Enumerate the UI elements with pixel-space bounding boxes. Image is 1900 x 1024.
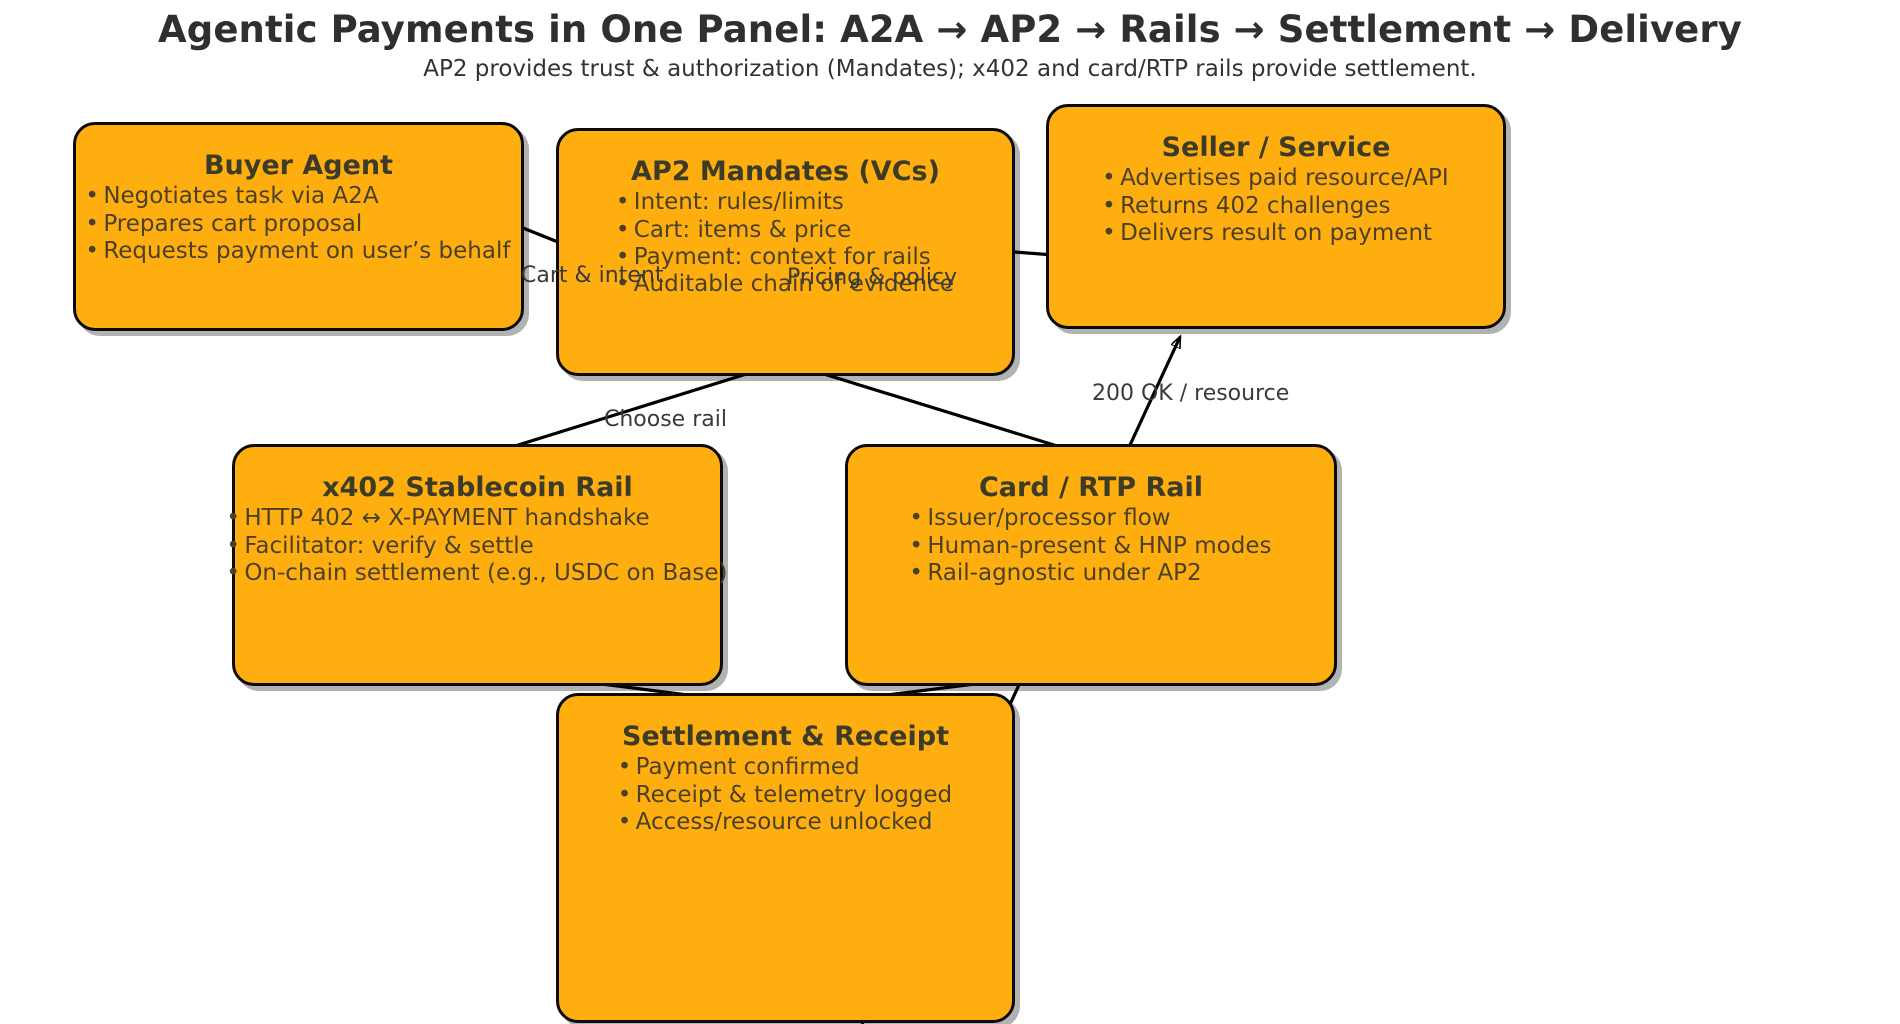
list-item: Rail-agnostic under AP2 [911, 560, 1272, 587]
edge-label-cart-intent: Cart & intent [521, 263, 663, 288]
node-title: Card / RTP Rail [979, 473, 1203, 503]
list-item: Requests payment on user’s behalf [87, 238, 511, 265]
node-seller-service[interactable]: Seller / Service Advertises paid resourc… [1046, 104, 1506, 329]
node-title: AP2 Mandates (VCs) [631, 157, 940, 187]
node-x402-stablecoin-rail[interactable]: x402 Stablecoin Rail HTTP 402 ↔ X-PAYMEN… [232, 444, 723, 686]
diagram-canvas: Agentic Payments in One Panel: A2A → AP2… [0, 0, 1900, 1024]
node-bullets: Issuer/processor flow Human-present & HN… [911, 505, 1272, 587]
list-item: Prepares cart proposal [87, 211, 511, 238]
list-item: Intent: rules/limits [617, 189, 954, 216]
list-item: HTTP 402 ↔ X-PAYMENT handshake [228, 505, 728, 532]
node-card-rtp-rail[interactable]: Card / RTP Rail Issuer/processor flow Hu… [845, 444, 1337, 686]
list-item: Payment confirmed [619, 754, 952, 781]
node-bullets: HTTP 402 ↔ X-PAYMENT handshake Facilitat… [228, 505, 728, 587]
node-bullets: Negotiates task via A2A Prepares cart pr… [87, 183, 511, 265]
node-ap2-mandates[interactable]: AP2 Mandates (VCs) Intent: rules/limits … [556, 128, 1015, 376]
list-item: Delivers result on payment [1103, 220, 1448, 247]
node-buyer-agent[interactable]: Buyer Agent Negotiates task via A2A Prep… [73, 122, 524, 331]
edge-label-200-ok-resource: 200 OK / resource [1092, 381, 1289, 406]
list-item: Receipt & telemetry logged [619, 782, 952, 809]
node-title: Buyer Agent [204, 151, 393, 181]
edge-label-pricing-policy: Pricing & policy [787, 265, 957, 290]
list-item: Negotiates task via A2A [87, 183, 511, 210]
node-title: Seller / Service [1162, 133, 1391, 163]
list-item: Human-present & HNP modes [911, 533, 1272, 560]
list-item: Advertises paid resource/API [1103, 165, 1448, 192]
list-item: Issuer/processor flow [911, 505, 1272, 532]
node-settlement-receipt[interactable]: Settlement & Receipt Payment confirmed R… [556, 693, 1015, 1023]
list-item: Access/resource unlocked [619, 809, 952, 836]
list-item: On-chain settlement (e.g., USDC on Base) [228, 560, 728, 587]
edge-label-choose-rail: Choose rail [604, 407, 727, 432]
list-item: Cart: items & price [617, 217, 954, 244]
node-title: Settlement & Receipt [622, 722, 949, 752]
list-item: Returns 402 challenges [1103, 193, 1448, 220]
node-bullets: Advertises paid resource/API Returns 402… [1103, 165, 1448, 247]
node-title: x402 Stablecoin Rail [322, 473, 633, 503]
node-bullets: Payment confirmed Receipt & telemetry lo… [619, 754, 952, 836]
list-item: Facilitator: verify & settle [228, 533, 728, 560]
